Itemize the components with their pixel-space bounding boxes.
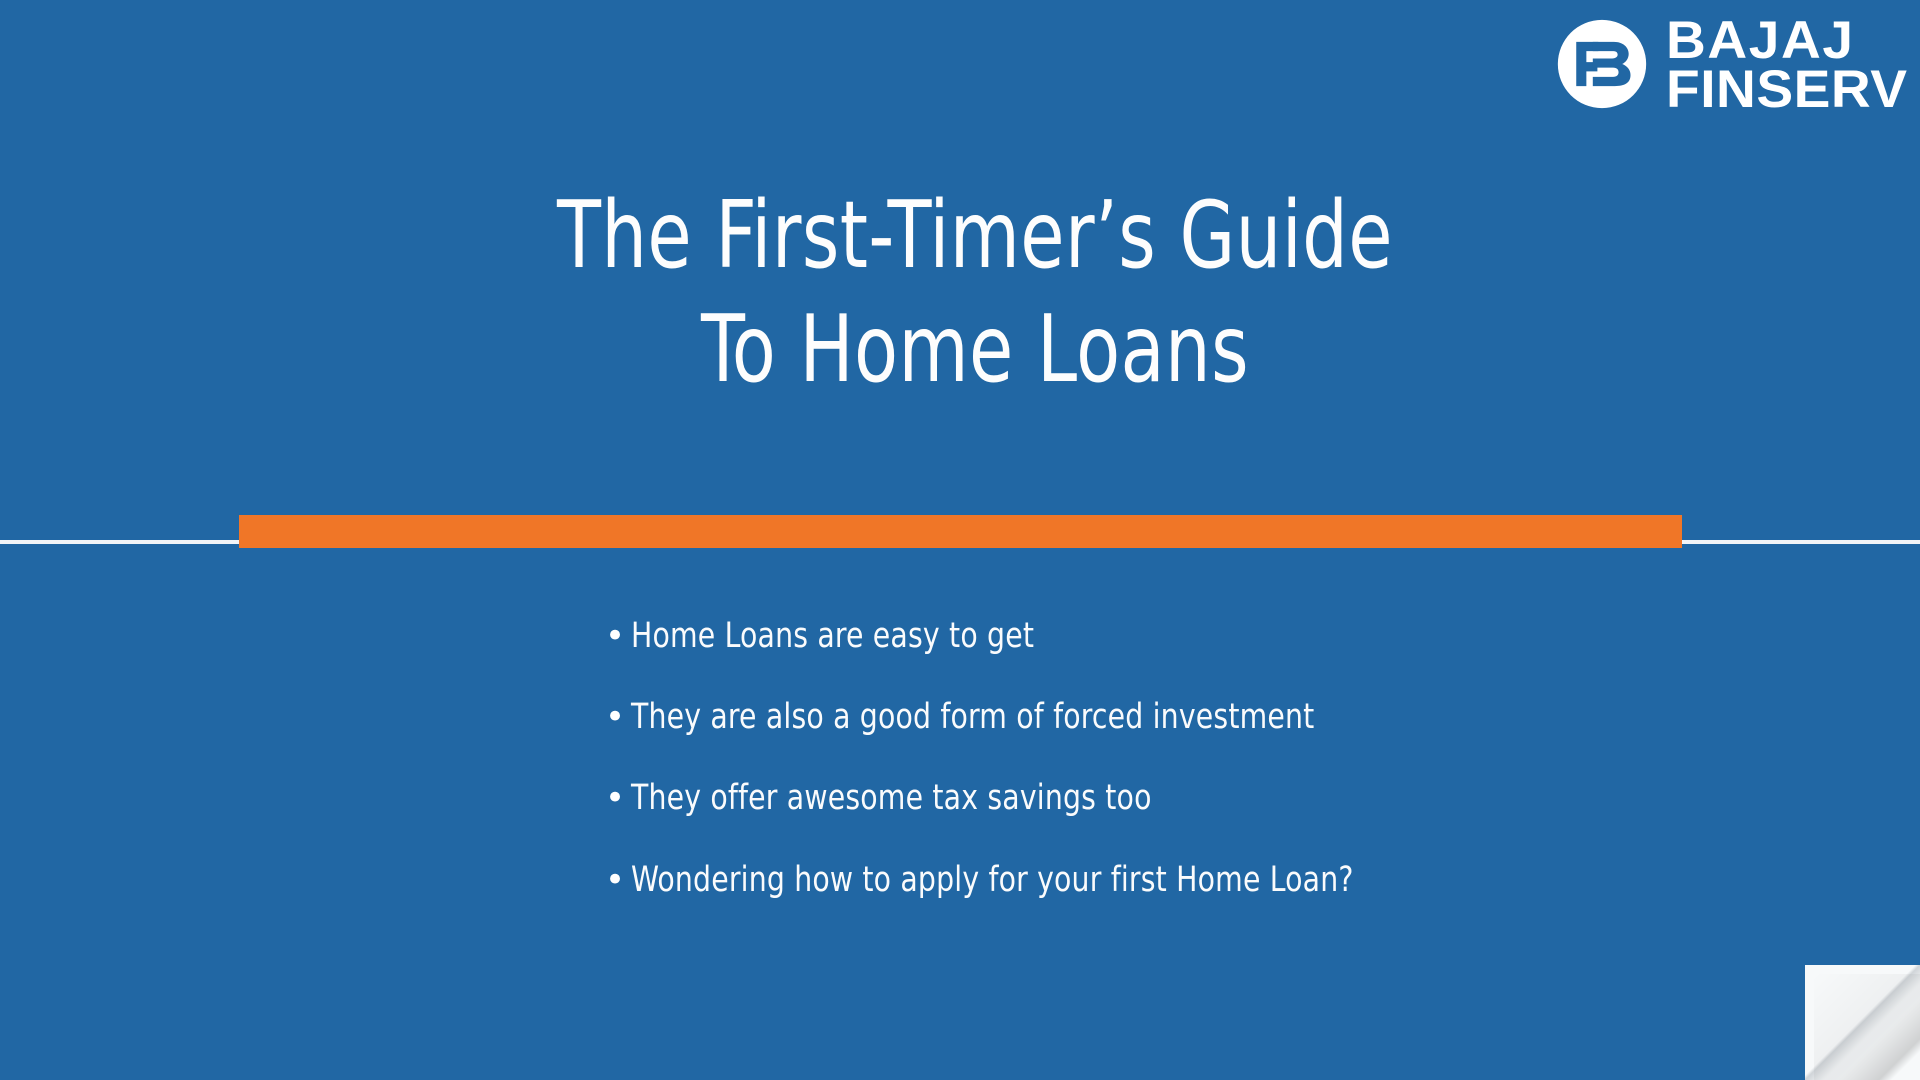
slide-title: The First-Timer’s Guide To Home Loans bbox=[0, 178, 1920, 407]
brand-wordmark: BAJAJ FINSERV bbox=[1666, 14, 1898, 115]
bullet-list: • Home Loans are easy to get • They are … bbox=[605, 617, 1705, 900]
brand-name-line-2: FINSERV bbox=[1666, 65, 1908, 114]
presentation-slide: BAJAJ FINSERV The First-Timer’s Guide To… bbox=[0, 0, 1920, 1080]
orange-accent-bar bbox=[239, 515, 1682, 548]
list-item: • They are also a good form of forced in… bbox=[605, 698, 1705, 737]
list-item: • Home Loans are easy to get bbox=[605, 617, 1705, 656]
bullet-marker-icon: • bbox=[605, 863, 631, 897]
bullet-marker-icon: • bbox=[605, 781, 631, 815]
page-fold-corner bbox=[1805, 965, 1920, 1080]
bullet-marker-icon: • bbox=[605, 700, 631, 734]
brand-logo: BAJAJ FINSERV bbox=[1556, 14, 1898, 114]
list-item-label: Wondering how to apply for your first Ho… bbox=[631, 861, 1354, 900]
page-fold-shadow bbox=[1805, 965, 1920, 1080]
list-item: • Wondering how to apply for your first … bbox=[605, 861, 1705, 900]
list-item-label: They offer awesome tax savings too bbox=[631, 779, 1152, 818]
bajaj-finserv-monogram-icon bbox=[1556, 18, 1648, 110]
title-line-2: To Home Loans bbox=[162, 292, 1787, 406]
list-item-label: They are also a good form of forced inve… bbox=[631, 698, 1314, 737]
list-item-label: Home Loans are easy to get bbox=[631, 617, 1034, 656]
title-line-1: The First-Timer’s Guide bbox=[162, 178, 1787, 292]
bullet-marker-icon: • bbox=[605, 619, 631, 653]
list-item: • They offer awesome tax savings too bbox=[605, 779, 1705, 818]
brand-name-line-1: BAJAJ bbox=[1666, 16, 1908, 65]
